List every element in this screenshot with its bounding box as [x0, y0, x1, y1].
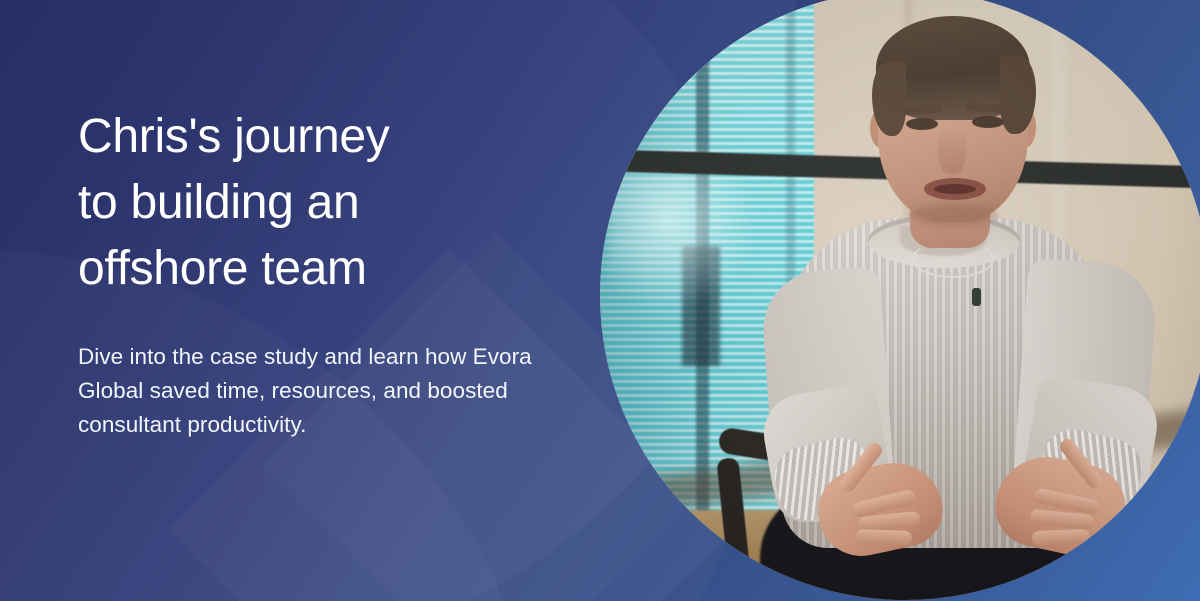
page-subtitle: Dive into the case study and learn how E…	[78, 302, 546, 442]
case-study-banner: Chris's journey to building an offshore …	[0, 0, 1200, 601]
photo-overlay	[600, 0, 1200, 600]
page-title: Chris's journey to building an offshore …	[78, 104, 568, 302]
speaker-photo-circle	[600, 0, 1200, 600]
speaker-photo	[600, 0, 1200, 600]
copy-block: Chris's journey to building an offshore …	[78, 104, 568, 442]
